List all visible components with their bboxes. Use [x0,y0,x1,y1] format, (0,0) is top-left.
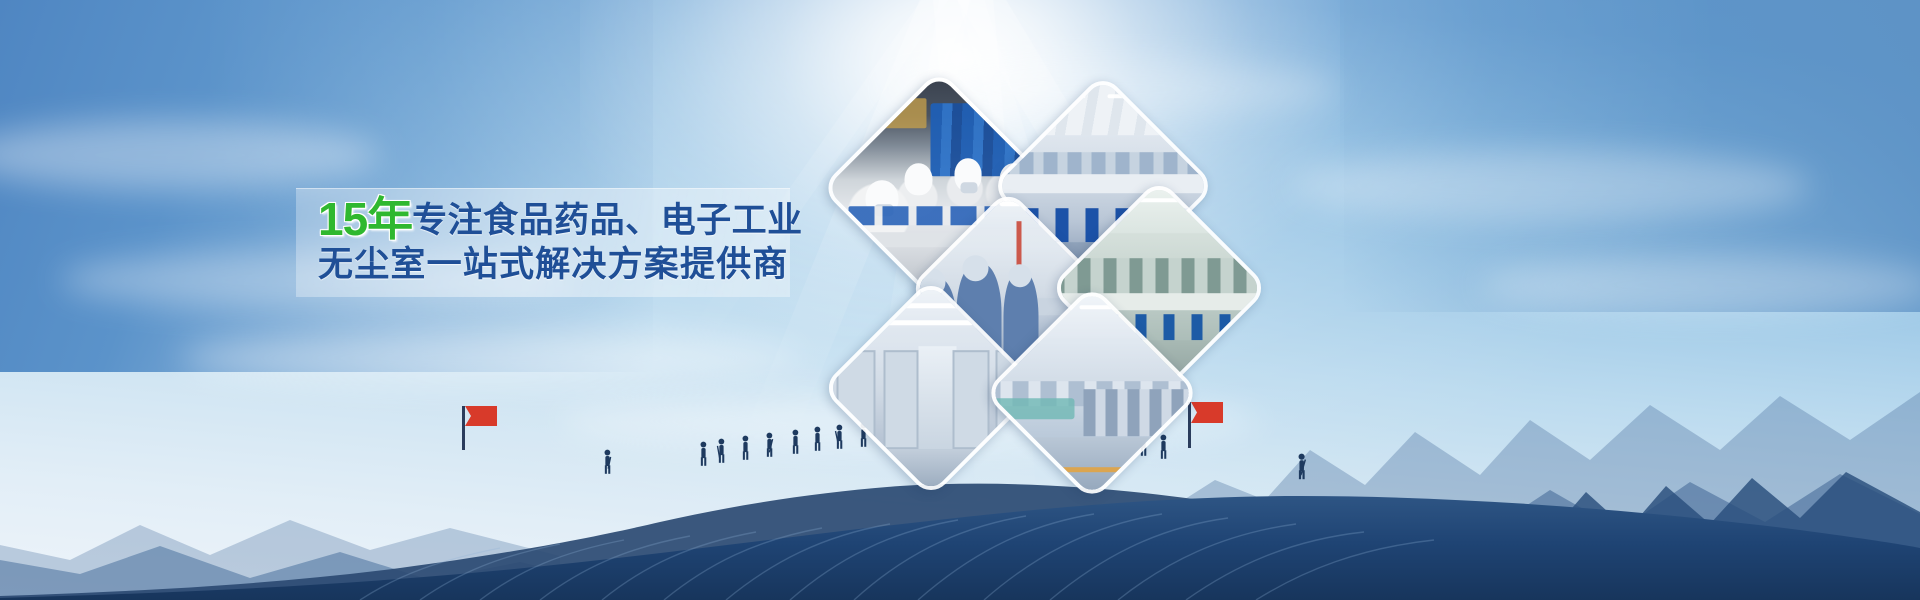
hero-banner: 15年专注食品药品、电子工业 无尘室一站式解决方案提供商 [0,0,1920,600]
headline-line1: 专注食品药品、电子工业 [412,201,803,240]
foreground-ridge-band [0,448,1920,600]
years-highlight: 15年 [318,193,412,245]
cloud [1290,150,1810,222]
headline-line2: 无尘室一站式解决方案提供商 [318,245,789,284]
diamond-photo-collage [845,96,1275,466]
headline: 15年专注食品药品、电子工业 无尘室一站式解决方案提供商 [318,196,788,295]
